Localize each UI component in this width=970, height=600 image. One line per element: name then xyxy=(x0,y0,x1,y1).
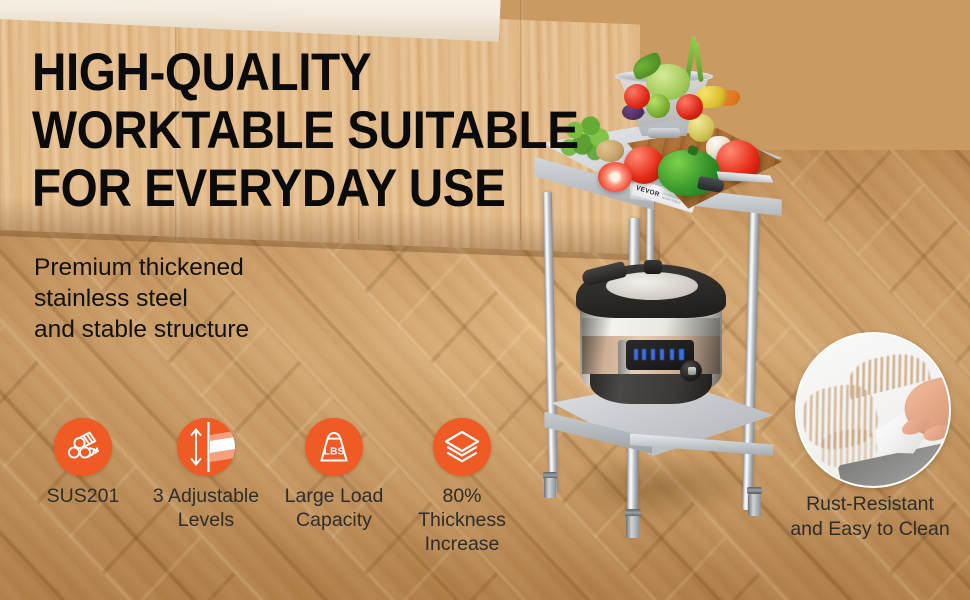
adjustable-foot xyxy=(626,516,640,538)
adjustable-foot xyxy=(544,478,556,498)
feature-label-line-1: Large Load xyxy=(285,484,384,508)
feature-item-sus201: SUS201 xyxy=(24,418,142,508)
feature-label-sus201: SUS201 xyxy=(47,484,120,508)
halved-tomato xyxy=(598,162,632,192)
feature-label-line-2: Increase xyxy=(398,532,526,556)
feature-label-line-1: 3 Adjustable xyxy=(153,484,259,508)
adjustable-levels-icon xyxy=(177,418,235,476)
subheadline: Premium thickened stainless steel and st… xyxy=(34,252,249,345)
feature-item-adjustable-levels: 3 Adjustable Levels xyxy=(142,418,270,532)
feature-label-line-2: Levels xyxy=(153,508,259,532)
inset-caption-line-2: and Easy to Clean xyxy=(770,517,970,542)
feature-item-large-load-capacity: LBS Large Load Capacity xyxy=(270,418,398,532)
stacked-tubes-icon xyxy=(54,418,112,476)
inset-caption: Rust-Resistant and Easy to Clean xyxy=(770,492,970,542)
stacked-layers-icon xyxy=(433,418,491,476)
product-banner: VEVOR STAINLESS WORKTABLE xyxy=(0,0,970,600)
electric-pressure-cooker xyxy=(576,256,726,406)
headline-line-3: FOR EVERYDAY USE xyxy=(32,160,579,218)
potato xyxy=(596,140,624,162)
feature-label-line-1: 80% Thickness xyxy=(398,484,526,532)
feature-list: SUS201 xyxy=(24,418,526,556)
cooker-control-dial[interactable] xyxy=(680,360,702,382)
feature-label-line-2: Capacity xyxy=(285,508,384,532)
feature-label-thickness-increase: 80% Thickness Increase xyxy=(398,484,526,556)
subheadline-line-2: stainless steel xyxy=(34,283,249,314)
adjustable-foot xyxy=(748,494,761,516)
colander-base xyxy=(648,128,680,138)
inset-caption-line-1: Rust-Resistant xyxy=(770,492,970,517)
weight-lbs-icon: LBS xyxy=(305,418,363,476)
tomato-in-bowl xyxy=(676,94,703,120)
feature-label-large-load-capacity: Large Load Capacity xyxy=(285,484,384,532)
subheadline-line-1: Premium thickened xyxy=(34,252,249,283)
feature-item-thickness-increase: 80% Thickness Increase xyxy=(398,418,526,556)
headline-line-2: WORKTABLE SUITABLE xyxy=(32,102,579,160)
rust-resistant-inset xyxy=(795,332,951,488)
weight-icon-text: LBS xyxy=(324,446,345,457)
hand-wiping-stainless-surface-photo xyxy=(795,332,951,488)
headline-line-1: HIGH-QUALITY xyxy=(32,44,579,102)
tomato-in-bowl xyxy=(624,84,650,109)
headline: HIGH-QUALITY WORKTABLE SUITABLE FOR EVER… xyxy=(32,44,579,218)
cooker-white-band xyxy=(582,318,720,338)
feature-label-adjustable-levels: 3 Adjustable Levels xyxy=(153,484,259,532)
adjustable-foot-collar xyxy=(747,487,762,494)
brand-name-text: VEVOR xyxy=(635,184,660,198)
subheadline-line-3: and stable structure xyxy=(34,314,249,345)
cooker-steam-valve xyxy=(644,260,662,274)
cooker-led-digits xyxy=(634,349,684,360)
